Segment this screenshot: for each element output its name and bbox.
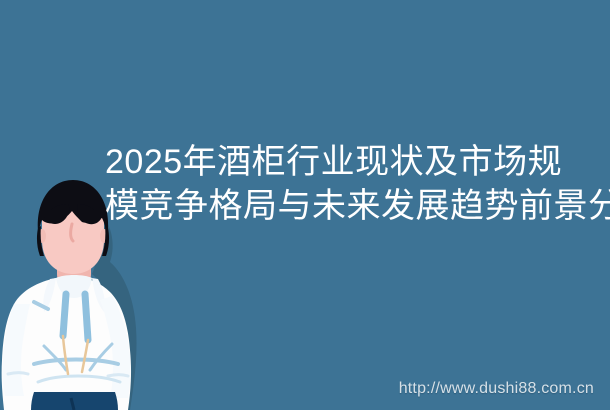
pants: [31, 392, 118, 410]
title-line-1: 2025年酒柜行业现状及市场规: [105, 140, 610, 184]
title-line-2: 模竞争格局与未来发展趋势前景分: [105, 184, 610, 228]
watermark-url: http://www.dushi88.com.cn: [399, 380, 594, 398]
page-title: 2025年酒柜行业现状及市场规 模竞争格局与未来发展趋势前景分: [105, 140, 610, 228]
poster-canvas: 2025年酒柜行业现状及市场规 模竞争格局与未来发展趋势前景分 http://w…: [0, 0, 610, 410]
hoodie: [2, 275, 131, 410]
